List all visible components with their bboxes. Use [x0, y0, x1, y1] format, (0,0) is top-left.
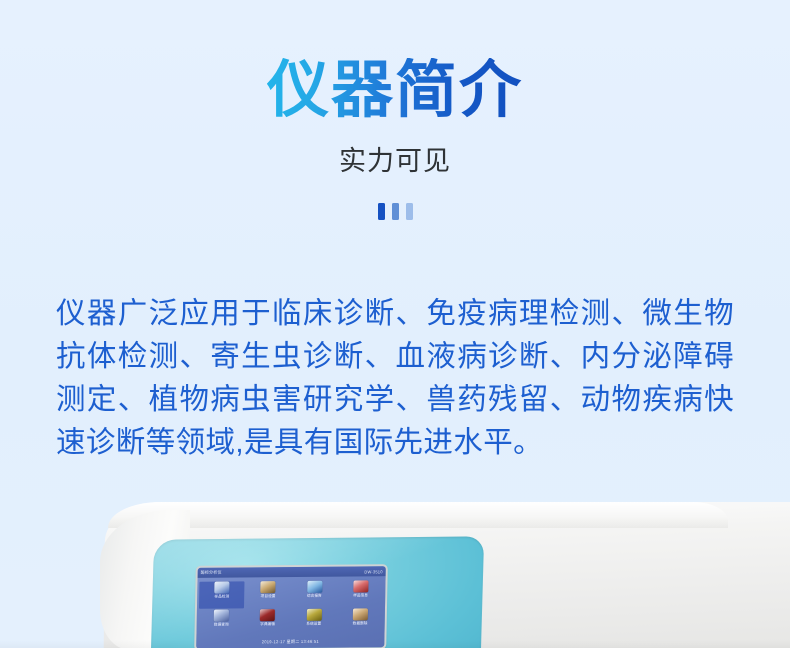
page-subtitle: 实力可见	[0, 145, 790, 177]
device-photo	[0, 488, 790, 648]
system-settings-icon	[306, 608, 321, 620]
divider-bar-1	[378, 203, 385, 220]
lcd-menu-item-dictionary-edit[interactable]: 字典编辑	[245, 609, 291, 636]
sample-info-icon	[353, 580, 368, 592]
search-icon	[214, 609, 229, 621]
lcd-menu-grid: 样品检测 项目设置 综合报告 样品信息 数据查询 字典编辑	[196, 576, 385, 636]
divider-bars	[0, 203, 790, 221]
lcd-menu-label: 字典编辑	[260, 621, 275, 627]
device-lcd-screen[interactable]: 酶标分析仪 DW-3510 样品检测 项目设置 综合报告 样品信息	[196, 566, 386, 648]
lcd-menu-label: 样品信息	[353, 593, 368, 599]
sample-test-icon	[214, 582, 229, 594]
lcd-menu-label: 综合报告	[307, 594, 322, 600]
lcd-menu-item-delete-data[interactable]: 数据删除	[337, 608, 383, 635]
divider-bar-2	[392, 203, 399, 220]
delete-data-icon	[353, 608, 368, 620]
page-title: 仪器简介	[267, 58, 523, 123]
device-top-lip	[108, 502, 728, 528]
lcd-menu-item-sample-info[interactable]: 样品信息	[338, 580, 384, 607]
header-block: 仪器简介 实力可见	[0, 0, 790, 221]
page-root: 仪器简介 实力可见 仪器广泛应用于临床诊断、免疫病理检测、微生物抗体检测、寄生虫…	[0, 0, 790, 648]
lcd-model-label: DW-3510	[364, 569, 382, 574]
lcd-menu-label: 数据删除	[353, 621, 368, 627]
lcd-menu-item-sample-test[interactable]: 样品检测	[199, 581, 245, 608]
divider-bar-3	[406, 203, 413, 220]
lcd-datetime: 2019-12-17 星期二 13:46:51	[196, 638, 384, 646]
lcd-menu-label: 系统设置	[306, 621, 321, 627]
report-icon	[307, 581, 322, 593]
lcd-menu-label: 数据查询	[214, 622, 229, 628]
project-settings-icon	[261, 581, 276, 593]
lcd-menu-item-data-query[interactable]: 数据查询	[198, 609, 244, 636]
lcd-menu-label: 样品检测	[214, 594, 229, 600]
lcd-title: 酶标分析仪	[201, 569, 222, 575]
lcd-menu-item-project-settings[interactable]: 项目设置	[245, 581, 291, 608]
dictionary-edit-icon	[260, 609, 275, 621]
lcd-menu-item-system-settings[interactable]: 系统设置	[291, 608, 337, 635]
description-paragraph: 仪器广泛应用于临床诊断、免疫病理检测、微生物抗体检测、寄生虫诊断、血液病诊断、内…	[56, 292, 734, 464]
lcd-menu-item-report[interactable]: 综合报告	[292, 581, 338, 608]
lcd-menu-label: 项目设置	[261, 594, 276, 600]
